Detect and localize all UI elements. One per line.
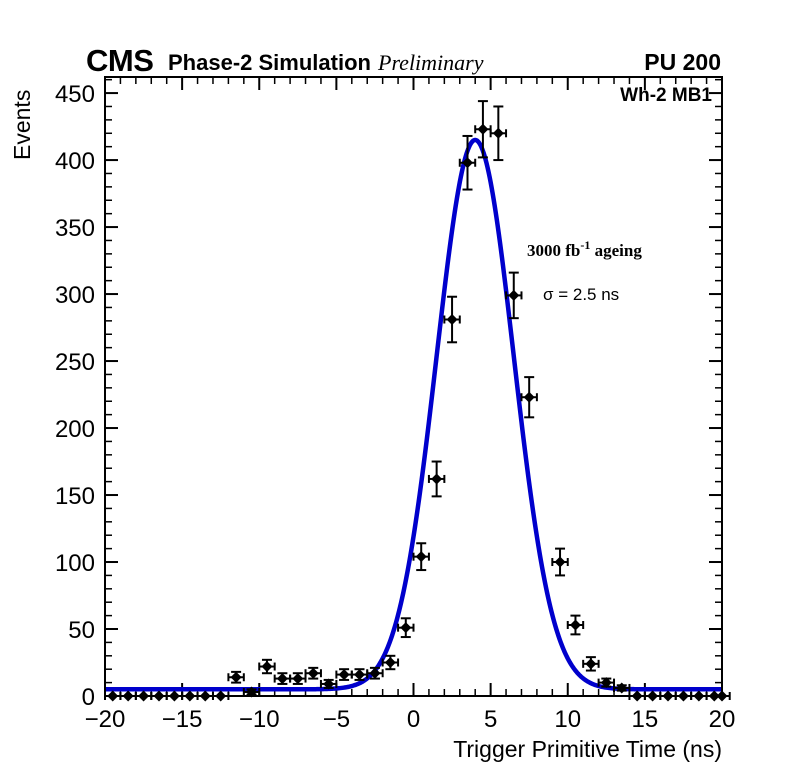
marker-core: [556, 558, 563, 565]
marker-core: [618, 684, 625, 691]
marker-core: [233, 674, 240, 681]
x-axis-title: Trigger Primitive Time (ns): [453, 736, 722, 762]
data-point: [521, 377, 536, 417]
data-point: [552, 549, 567, 576]
y-tick-label: 200: [55, 416, 95, 443]
marker-core: [340, 671, 347, 678]
marker-core: [294, 675, 301, 682]
x-tick-label: 15: [632, 706, 659, 733]
y-tick-label: 150: [55, 483, 95, 510]
marker-core: [464, 159, 471, 166]
y-tick-label: 250: [55, 349, 95, 376]
marker-core: [587, 660, 594, 667]
marker-core: [402, 624, 409, 631]
marker-core: [572, 621, 579, 628]
marker-core: [356, 671, 363, 678]
y-tick-label: 50: [68, 617, 95, 644]
x-tick-label: −5: [323, 706, 350, 733]
chamber-label: Wh-2 MB1: [620, 85, 712, 106]
data-point: [583, 657, 598, 670]
marker-core: [526, 394, 533, 401]
marker-core: [371, 670, 378, 677]
marker-core: [603, 679, 610, 686]
x-tick-label: −15: [162, 706, 203, 733]
marker-core: [510, 292, 517, 299]
marker-core: [325, 680, 332, 687]
plot-frame-overlay: [105, 77, 722, 696]
x-tick-label: 0: [407, 706, 420, 733]
data-point: [259, 660, 274, 673]
physics-plot-figure: CMS Phase-2 Simulation Preliminary PU 20…: [0, 0, 796, 772]
data-point: [444, 297, 459, 343]
plot-frame: [105, 77, 722, 696]
data-point: [228, 672, 243, 683]
data-point: [614, 682, 629, 693]
cms-preliminary-tag: Preliminary: [377, 50, 484, 75]
data-point: [398, 618, 413, 637]
data-point: [429, 462, 444, 497]
marker-core: [448, 316, 455, 323]
plot-drawing-layer: −20−15−10−505101520050100150200250300350…: [55, 77, 735, 733]
ageing-lumi-exponent: -1: [580, 238, 590, 252]
x-tick-label: −10: [239, 706, 280, 733]
data-point: [491, 106, 506, 160]
marker-core: [279, 675, 286, 682]
data-point: [290, 673, 305, 684]
svg-text:3000 fb-1 ageing: 3000 fb-1 ageing: [527, 238, 642, 260]
y-tick-label: 300: [55, 282, 95, 309]
data-point: [475, 101, 490, 157]
marker-core: [263, 663, 270, 670]
y-tick-label: 0: [82, 684, 95, 711]
data-point: [414, 543, 429, 570]
ageing-annotation: 3000 fb-1 ageing: [527, 238, 642, 260]
sigma-annotation: σ = 2.5 ns: [543, 285, 619, 304]
marker-core: [495, 130, 502, 137]
y-tick-label: 400: [55, 148, 95, 175]
marker-core: [387, 659, 394, 666]
cms-subtitle: Phase-2 Simulation: [168, 50, 371, 75]
ageing-lumi-value: 3000 fb: [527, 241, 580, 260]
ageing-lumi-tail: ageing: [590, 241, 642, 260]
marker-core: [418, 553, 425, 560]
marker-core: [479, 126, 486, 133]
x-tick-label: 10: [554, 706, 581, 733]
marker-core: [433, 475, 440, 482]
marker-core: [248, 688, 255, 695]
y-axis-title: Events: [9, 90, 35, 160]
x-tick-label: 20: [709, 706, 736, 733]
data-point: [306, 668, 321, 679]
cms-logo-text: CMS: [86, 43, 153, 78]
gaussian-fit-curve: [105, 140, 722, 689]
pileup-label: PU 200: [644, 49, 721, 75]
y-tick-label: 450: [55, 81, 95, 108]
data-point: [568, 616, 583, 635]
y-tick-label: 350: [55, 215, 95, 242]
data-point: [336, 669, 351, 680]
x-tick-label: 5: [484, 706, 497, 733]
marker-core: [310, 670, 317, 677]
plot-canvas: CMS Phase-2 Simulation Preliminary PU 20…: [0, 0, 796, 772]
y-tick-label: 100: [55, 550, 95, 577]
data-point: [275, 673, 290, 684]
